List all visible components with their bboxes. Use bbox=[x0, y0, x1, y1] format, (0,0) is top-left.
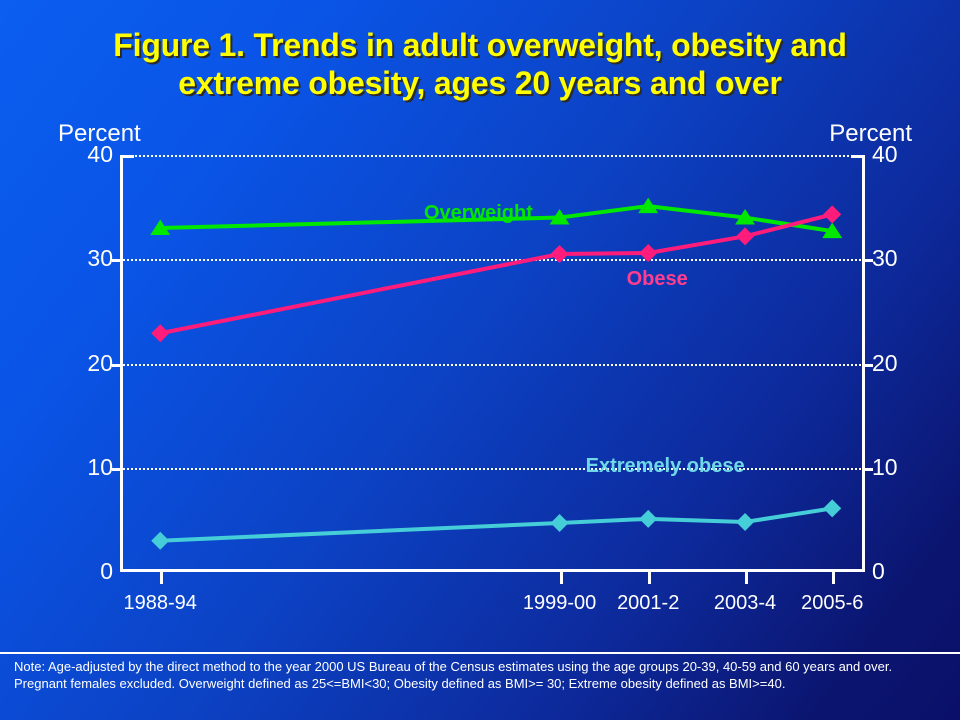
series-marker bbox=[551, 245, 569, 263]
series-annotation-obese: Obese bbox=[627, 269, 688, 289]
series-marker bbox=[823, 205, 841, 223]
x-axis-tick bbox=[832, 572, 835, 584]
page-title: Figure 1. Trends in adult overweight, ob… bbox=[0, 26, 960, 102]
series-marker bbox=[639, 510, 657, 528]
series-line bbox=[160, 508, 832, 540]
page-title-line-1: Figure 1. Trends in adult overweight, ob… bbox=[0, 26, 960, 64]
page-title-line-2: extreme obesity, ages 20 years and over bbox=[0, 64, 960, 102]
x-axis-tick bbox=[648, 572, 651, 584]
y-axis-tick-label: 40 bbox=[872, 143, 898, 166]
series-extremely-obese bbox=[151, 499, 841, 549]
x-axis-tick-label: 1999-00 bbox=[523, 592, 596, 614]
chart-plot-area: 001010202030304040 1988-941999-002001-22… bbox=[120, 155, 865, 572]
y-axis-tick-label: 20 bbox=[87, 352, 113, 375]
slide-canvas: Figure 1. Trends in adult overweight, ob… bbox=[0, 0, 960, 720]
series-line bbox=[160, 214, 832, 333]
x-axis-tick-label: 2001-2 bbox=[617, 592, 679, 614]
series-marker bbox=[151, 532, 169, 550]
footnote-divider bbox=[0, 652, 960, 654]
series-marker bbox=[736, 513, 754, 531]
series-annotation-overweight: Overweight bbox=[424, 203, 533, 223]
series-marker bbox=[736, 227, 754, 245]
y-axis-tick-label: 0 bbox=[100, 560, 113, 583]
x-axis-tick bbox=[745, 572, 748, 584]
x-axis-tick bbox=[160, 572, 163, 584]
y-axis-tick-label: 40 bbox=[87, 143, 113, 166]
series-annotation-extremely-obese: Extremely obese bbox=[586, 456, 745, 476]
y-axis-caption-right: Percent bbox=[829, 122, 912, 146]
y-axis-tick-label: 10 bbox=[872, 456, 898, 479]
y-axis-tick-label: 20 bbox=[872, 352, 898, 375]
x-axis-tick-label: 2003-4 bbox=[714, 592, 776, 614]
y-axis-tick-label: 30 bbox=[872, 247, 898, 270]
x-axis-tick-label: 1988-94 bbox=[124, 592, 197, 614]
series-marker bbox=[551, 514, 569, 532]
y-axis-tick-label: 30 bbox=[87, 247, 113, 270]
y-axis-tick-label: 10 bbox=[87, 456, 113, 479]
series-marker bbox=[639, 244, 657, 262]
footnote-text: Note: Age-adjusted by the direct method … bbox=[14, 658, 948, 692]
x-axis-tick-label: 2005-6 bbox=[801, 592, 863, 614]
series-marker bbox=[151, 324, 169, 342]
x-axis-tick bbox=[560, 572, 563, 584]
y-axis-tick-label: 0 bbox=[872, 560, 885, 583]
series-marker bbox=[823, 499, 841, 517]
